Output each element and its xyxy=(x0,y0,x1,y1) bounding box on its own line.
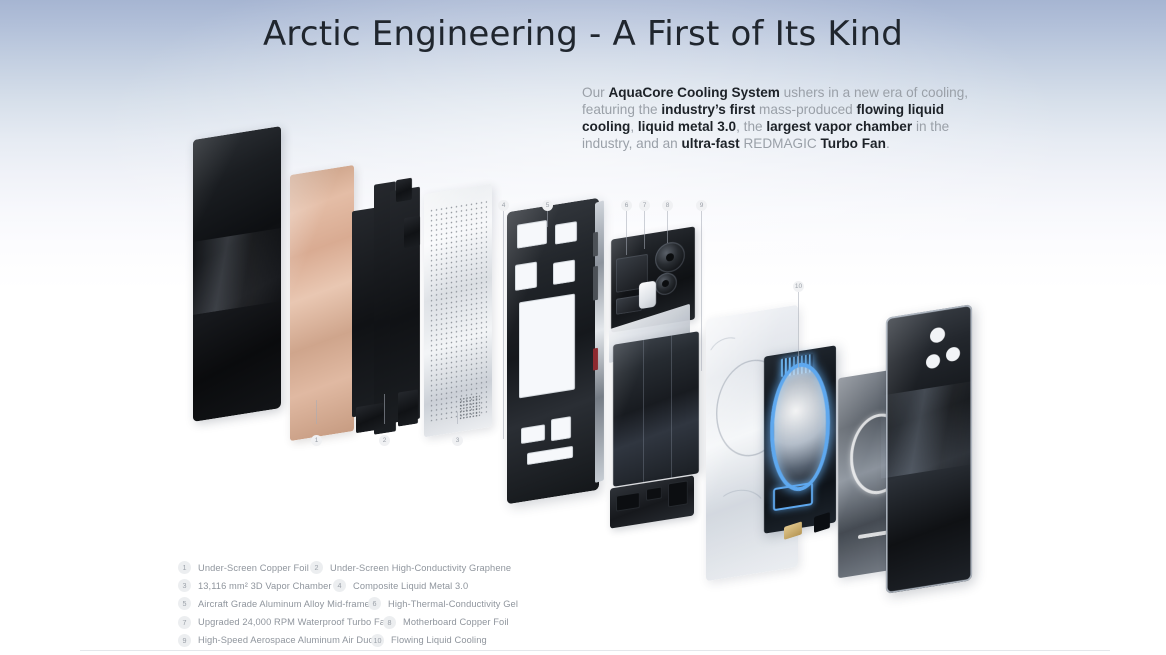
legend-row: 1Under-Screen Copper Foil2Under-Screen H… xyxy=(178,561,598,579)
legend-badge-1: 1 xyxy=(178,561,191,574)
legend-label-8: Motherboard Copper Foil xyxy=(403,617,509,627)
exploded-diagram: 12345678910 xyxy=(0,0,1166,600)
callout-leader-line-7 xyxy=(644,211,645,249)
callout-badge-2: 2 xyxy=(379,435,390,446)
cooling-pipe xyxy=(773,482,813,511)
legend-badge-5: 5 xyxy=(178,597,191,610)
callout-badge-10: 10 xyxy=(793,281,804,292)
callout-badge-1: 1 xyxy=(311,435,322,446)
callout-leader-line-8 xyxy=(667,211,668,243)
callout-badge-7: 7 xyxy=(639,200,650,211)
back-glass-gloss xyxy=(881,381,977,479)
battery-module xyxy=(613,331,699,487)
callout-badge-9: 9 xyxy=(696,200,707,211)
callout-badge-4: 4 xyxy=(498,200,509,211)
legend-badge-2: 2 xyxy=(310,561,323,574)
callout-badge-5: 5 xyxy=(542,200,553,211)
legend-label-3: 13,116 mm² 3D Vapor Chamber xyxy=(198,581,332,591)
legend-label-1: Under-Screen Copper Foil xyxy=(198,563,309,573)
screen-gloss xyxy=(193,228,281,315)
legend: 1Under-Screen Copper Foil2Under-Screen H… xyxy=(178,561,598,652)
motherboard-module xyxy=(611,226,695,332)
callout-leader-line-6 xyxy=(626,211,627,255)
legend-label-9: High-Speed Aerospace Aluminum Air Duct xyxy=(198,635,376,645)
legend-label-6: High-Thermal-Conductivity Gel xyxy=(388,599,518,609)
legend-item-10[interactable]: 10Flowing Liquid Cooling xyxy=(371,634,487,647)
callout-leader-line-9 xyxy=(701,211,702,371)
legend-badge-8: 8 xyxy=(383,616,396,629)
vapor-chamber-perforations xyxy=(429,199,486,422)
callout-leader-line-1 xyxy=(316,400,317,424)
legend-badge-10: 10 xyxy=(371,634,384,647)
legend-item-1[interactable]: 1Under-Screen Copper Foil xyxy=(178,561,309,574)
legend-label-7: Upgraded 24,000 RPM Waterproof Turbo Fan xyxy=(198,617,390,627)
callout-leader-line-10 xyxy=(798,292,799,368)
copper-foil-layer xyxy=(290,165,354,441)
vapor-chamber-fine-mesh xyxy=(459,395,479,420)
legend-row: 5Aircraft Grade Aluminum Alloy Mid-frame… xyxy=(178,597,598,615)
legend-item-3[interactable]: 313,116 mm² 3D Vapor Chamber xyxy=(178,579,332,592)
footer-divider xyxy=(80,650,1110,651)
liquid-cooling-loop xyxy=(764,345,836,533)
callout-leader-line-5 xyxy=(547,211,548,227)
callout-leader-line-3 xyxy=(457,412,458,424)
legend-label-4: Composite Liquid Metal 3.0 xyxy=(353,581,468,591)
legend-badge-4: 4 xyxy=(333,579,346,592)
legend-item-7[interactable]: 7Upgraded 24,000 RPM Waterproof Turbo Fa… xyxy=(178,616,390,629)
callout-leader-line-2 xyxy=(384,394,385,424)
legend-badge-9: 9 xyxy=(178,634,191,647)
legend-item-5[interactable]: 5Aircraft Grade Aluminum Alloy Mid-frame xyxy=(178,597,370,610)
callout-badge-6: 6 xyxy=(621,200,632,211)
legend-badge-3: 3 xyxy=(178,579,191,592)
legend-row: 313,116 mm² 3D Vapor Chamber4Composite L… xyxy=(178,579,598,597)
vapor-chamber-plate xyxy=(424,184,492,438)
screen-panel xyxy=(193,126,281,422)
legend-label-2: Under-Screen High-Conductivity Graphene xyxy=(330,563,511,573)
legend-item-2[interactable]: 2Under-Screen High-Conductivity Graphene xyxy=(310,561,511,574)
cooling-control-chip xyxy=(814,512,830,533)
callout-leader-line-4 xyxy=(503,211,504,439)
legend-row: 7Upgraded 24,000 RPM Waterproof Turbo Fa… xyxy=(178,616,598,634)
legend-item-8[interactable]: 8Motherboard Copper Foil xyxy=(383,616,509,629)
legend-badge-7: 7 xyxy=(178,616,191,629)
aluminum-mid-frame xyxy=(507,198,599,505)
callout-badge-3: 3 xyxy=(452,435,463,446)
legend-label-5: Aircraft Grade Aluminum Alloy Mid-frame xyxy=(198,599,370,609)
callout-badge-8: 8 xyxy=(662,200,673,211)
legend-item-9[interactable]: 9High-Speed Aerospace Aluminum Air Duct xyxy=(178,634,376,647)
back-glass-cover xyxy=(886,304,972,594)
graphene-sheet xyxy=(352,183,420,435)
legend-label-10: Flowing Liquid Cooling xyxy=(391,635,487,645)
cooling-loop-ring xyxy=(770,359,830,496)
legend-item-4[interactable]: 4Composite Liquid Metal 3.0 xyxy=(333,579,468,592)
legend-item-6[interactable]: 6High-Thermal-Conductivity Gel xyxy=(368,597,518,610)
legend-badge-6: 6 xyxy=(368,597,381,610)
